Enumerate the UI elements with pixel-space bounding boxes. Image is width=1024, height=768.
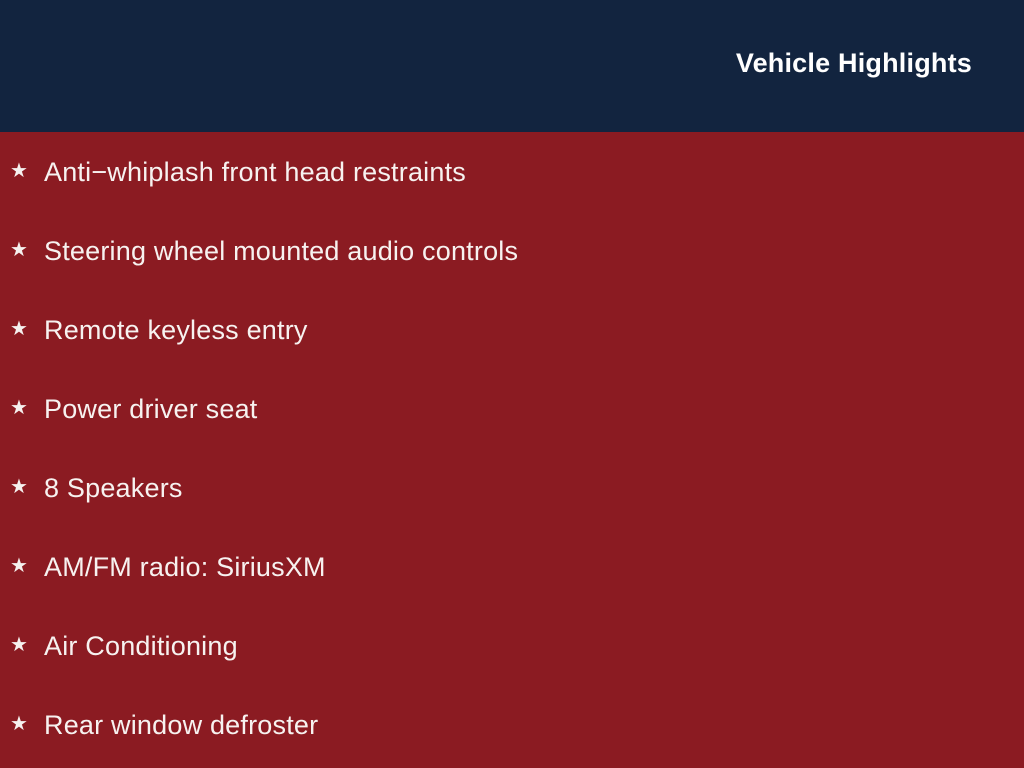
list-item-label: Rear window defroster bbox=[44, 709, 318, 741]
page-title: Vehicle Highlights bbox=[736, 46, 972, 80]
list-item: ★ Steering wheel mounted audio controls bbox=[0, 211, 1024, 290]
star-icon: ★ bbox=[10, 635, 44, 655]
list-item-label: Anti−whiplash front head restraints bbox=[44, 156, 466, 188]
list-item: ★ Rear window defroster bbox=[0, 685, 1024, 764]
star-icon: ★ bbox=[10, 556, 44, 576]
list-item: ★ Air Conditioning bbox=[0, 606, 1024, 685]
slide-header: Vehicle Highlights bbox=[0, 0, 1024, 132]
star-icon: ★ bbox=[10, 714, 44, 734]
list-item-label: AM/FM radio: SiriusXM bbox=[44, 551, 326, 583]
list-item: ★ Anti−whiplash front head restraints bbox=[0, 132, 1024, 211]
list-item: ★ AM/FM radio: SiriusXM bbox=[0, 527, 1024, 606]
star-icon: ★ bbox=[10, 398, 44, 418]
star-icon: ★ bbox=[10, 477, 44, 497]
list-item-label: Air Conditioning bbox=[44, 630, 238, 662]
list-item: ★ 8 Speakers bbox=[0, 448, 1024, 527]
list-item-label: 8 Speakers bbox=[44, 472, 183, 504]
list-item: ★ Remote keyless entry bbox=[0, 290, 1024, 369]
list-item: ★ Power driver seat bbox=[0, 369, 1024, 448]
star-icon: ★ bbox=[10, 240, 44, 260]
list-item-label: Power driver seat bbox=[44, 393, 257, 425]
vehicle-feature-list: ★ Anti−whiplash front head restraints ★ … bbox=[0, 132, 1024, 764]
slide-body: ★ Anti−whiplash front head restraints ★ … bbox=[0, 132, 1024, 768]
star-icon: ★ bbox=[10, 319, 44, 339]
vehicle-highlights-slide: Vehicle Highlights ★ Anti−whiplash front… bbox=[0, 0, 1024, 768]
star-icon: ★ bbox=[10, 161, 44, 181]
list-item-label: Steering wheel mounted audio controls bbox=[44, 235, 518, 267]
list-item-label: Remote keyless entry bbox=[44, 314, 308, 346]
